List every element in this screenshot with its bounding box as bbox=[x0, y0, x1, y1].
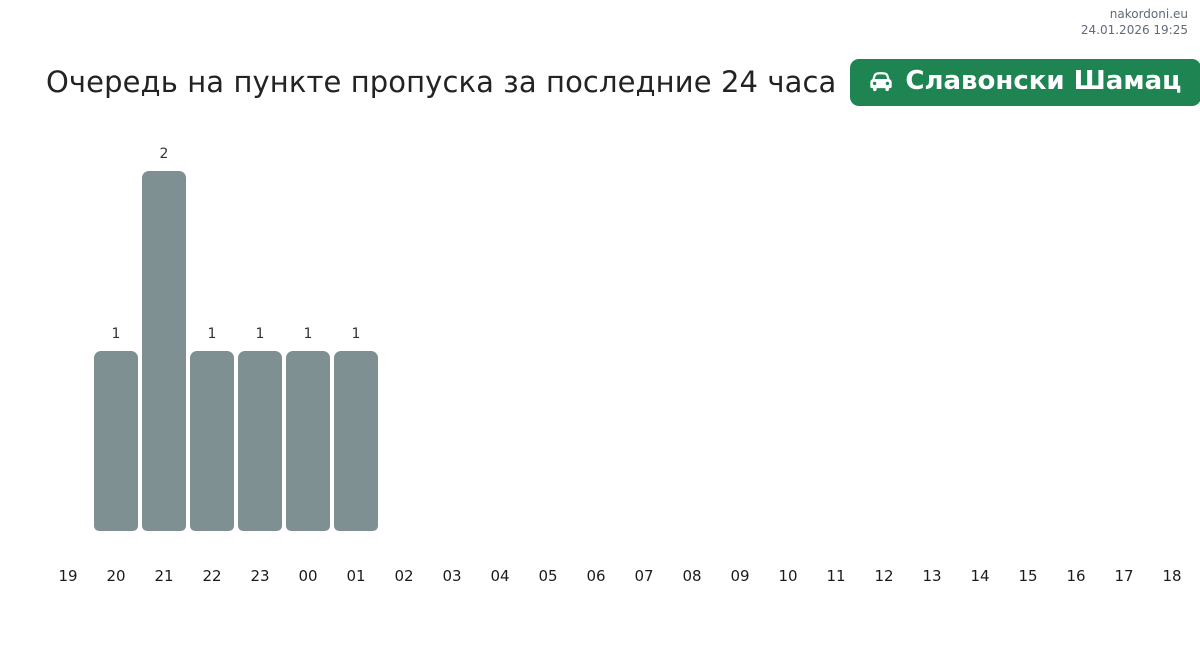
x-axis-tick: 08 bbox=[668, 566, 716, 586]
x-axis-tick: 21 bbox=[140, 566, 188, 586]
x-axis-tick: 12 bbox=[860, 566, 908, 586]
chart-bar[interactable] bbox=[238, 351, 282, 531]
bar-slot bbox=[1148, 118, 1196, 563]
bar-slot: 2 bbox=[140, 118, 188, 563]
bar-slot: 1 bbox=[284, 118, 332, 563]
queue-bar-chart: 121111 192021222300010203040506070809101… bbox=[0, 118, 1200, 598]
bar-slot bbox=[956, 118, 1004, 563]
bar-slot bbox=[908, 118, 956, 563]
bar-value-label: 1 bbox=[284, 327, 332, 341]
bar-value-label: 2 bbox=[140, 147, 188, 161]
bar-slot bbox=[1100, 118, 1148, 563]
x-axis-tick: 20 bbox=[92, 566, 140, 586]
x-axis-tick: 23 bbox=[236, 566, 284, 586]
x-axis-tick: 16 bbox=[1052, 566, 1100, 586]
x-axis-tick: 04 bbox=[476, 566, 524, 586]
bar-slot bbox=[764, 118, 812, 563]
x-axis-tick: 17 bbox=[1100, 566, 1148, 586]
x-axis-tick: 01 bbox=[332, 566, 380, 586]
site-name: nakordoni.eu bbox=[1081, 6, 1188, 22]
bar-slot bbox=[1004, 118, 1052, 563]
bar-value-label: 1 bbox=[236, 327, 284, 341]
bar-slot bbox=[668, 118, 716, 563]
bar-slot bbox=[428, 118, 476, 563]
bar-value-label: 1 bbox=[92, 327, 140, 341]
x-axis-tick: 02 bbox=[380, 566, 428, 586]
bar-value-label: 1 bbox=[188, 327, 236, 341]
car-icon bbox=[866, 69, 896, 95]
x-axis-tick: 13 bbox=[908, 566, 956, 586]
x-axis-tick: 07 bbox=[620, 566, 668, 586]
timestamp: 24.01.2026 19:25 bbox=[1081, 22, 1188, 38]
bar-slot bbox=[476, 118, 524, 563]
x-axis-tick: 00 bbox=[284, 566, 332, 586]
chart-x-axis: 1920212223000102030405060708091011121314… bbox=[0, 566, 1200, 596]
x-axis-tick: 18 bbox=[1148, 566, 1196, 586]
chart-bar[interactable] bbox=[142, 171, 186, 531]
bar-slot: 1 bbox=[92, 118, 140, 563]
chart-bar[interactable] bbox=[190, 351, 234, 531]
crossing-point-badge[interactable]: Славонски Шамац bbox=[850, 59, 1200, 106]
bar-slot bbox=[620, 118, 668, 563]
bar-value-label: 1 bbox=[332, 327, 380, 341]
title-row: Очередь на пункте пропуска за последние … bbox=[46, 58, 1154, 106]
bar-slot bbox=[716, 118, 764, 563]
x-axis-tick: 09 bbox=[716, 566, 764, 586]
chart-plot-area: 121111 bbox=[0, 118, 1200, 563]
x-axis-tick: 22 bbox=[188, 566, 236, 586]
x-axis-tick: 03 bbox=[428, 566, 476, 586]
bar-slot bbox=[860, 118, 908, 563]
x-axis-tick: 19 bbox=[44, 566, 92, 586]
bar-slot: 1 bbox=[332, 118, 380, 563]
chart-bar[interactable] bbox=[286, 351, 330, 531]
bar-slot: 1 bbox=[188, 118, 236, 563]
x-axis-tick: 06 bbox=[572, 566, 620, 586]
bar-slot bbox=[812, 118, 860, 563]
bar-slot: 1 bbox=[236, 118, 284, 563]
bar-slot bbox=[380, 118, 428, 563]
page-title: Очередь на пункте пропуска за последние … bbox=[46, 65, 836, 99]
chart-bar[interactable] bbox=[334, 351, 378, 531]
bar-slot bbox=[572, 118, 620, 563]
header-meta: nakordoni.eu 24.01.2026 19:25 bbox=[1081, 6, 1188, 38]
bar-slot bbox=[524, 118, 572, 563]
chart-bar[interactable] bbox=[94, 351, 138, 531]
bar-slot bbox=[44, 118, 92, 563]
x-axis-tick: 14 bbox=[956, 566, 1004, 586]
bar-slot bbox=[1052, 118, 1100, 563]
crossing-point-name: Славонски Шамац bbox=[905, 66, 1181, 96]
x-axis-tick: 05 bbox=[524, 566, 572, 586]
x-axis-tick: 10 bbox=[764, 566, 812, 586]
x-axis-tick: 15 bbox=[1004, 566, 1052, 586]
x-axis-tick: 11 bbox=[812, 566, 860, 586]
